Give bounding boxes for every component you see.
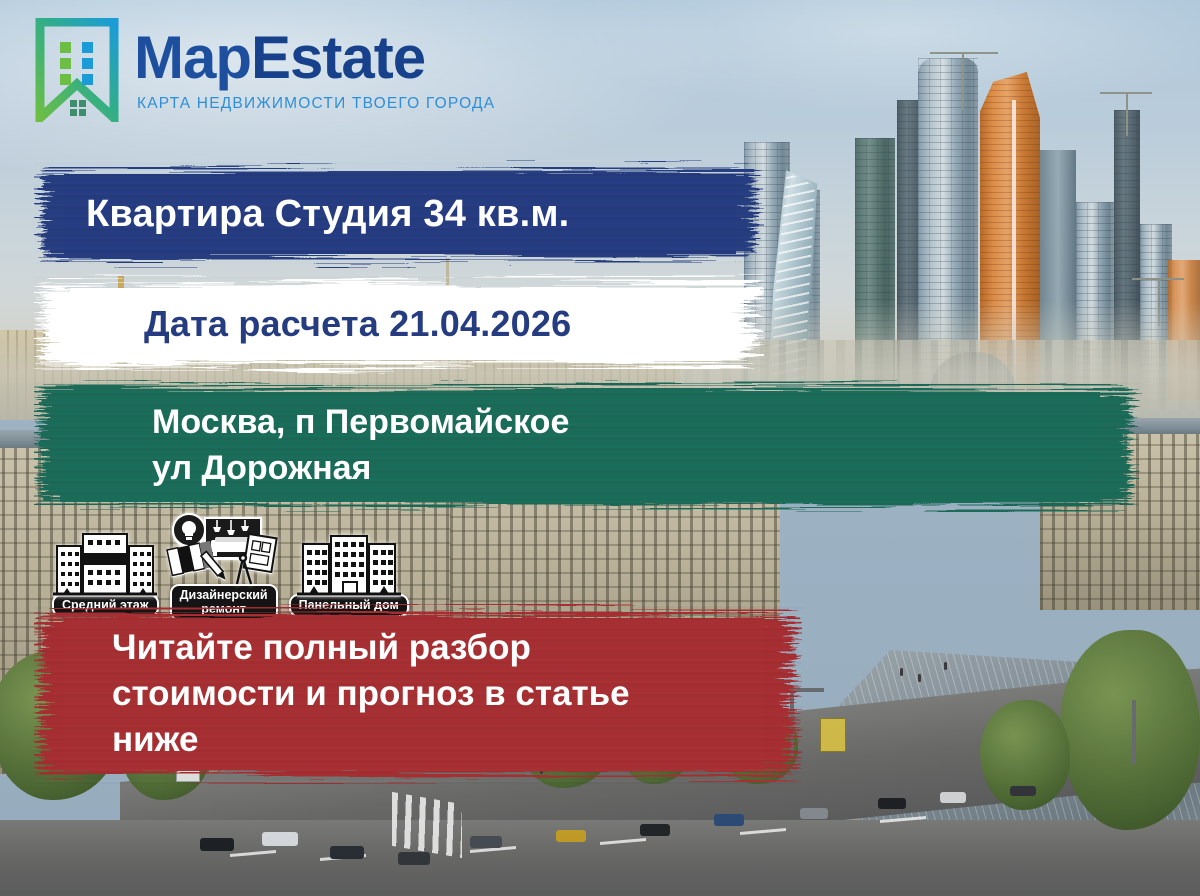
bookmark-building-icon (34, 18, 120, 122)
calculation-date-text: Дата расчета 21.04.2026 (144, 303, 571, 345)
address-text: Москва, п Первомайское ул Дорожная (152, 400, 569, 492)
designer-renovation-icon (165, 512, 283, 590)
brand-wordmark: MapEstate КАРТА НЕДВИЖИМОСТИ ТВОЕГО ГОРО… (134, 28, 495, 113)
brand-name-map: Map (134, 24, 251, 91)
banner-address: Москва, п Первомайское ул Дорожная (34, 380, 1142, 512)
cta-text: Читайте полный разбор стоимости и прогно… (112, 625, 630, 764)
poster-canvas: MapEstate КАРТА НЕДВИЖИМОСТИ ТВОЕГО ГОРО… (0, 0, 1200, 896)
banner-cta: Читайте полный разбор стоимости и прогно… (34, 604, 802, 784)
brand-name: MapEstate (134, 28, 495, 88)
panel-house-icon (297, 530, 401, 600)
brand-tagline: КАРТА НЕДВИЖИМОСТИ ТВОЕГО ГОРОДА (137, 95, 495, 113)
property-type-text: Квартира Студия 34 кв.м. (86, 193, 569, 236)
mid-rise-building-icon (53, 530, 157, 600)
banner-calculation-date: Дата расчета 21.04.2026 (34, 274, 764, 374)
brand-logo[interactable]: MapEstate КАРТА НЕДВИЖИМОСТИ ТВОЕГО ГОРО… (34, 18, 495, 122)
brand-name-estate: Estate (251, 24, 425, 91)
banner-property-type: Квартира Студия 34 кв.м. (34, 160, 764, 268)
feature-badges: Средний этаж (52, 512, 409, 617)
